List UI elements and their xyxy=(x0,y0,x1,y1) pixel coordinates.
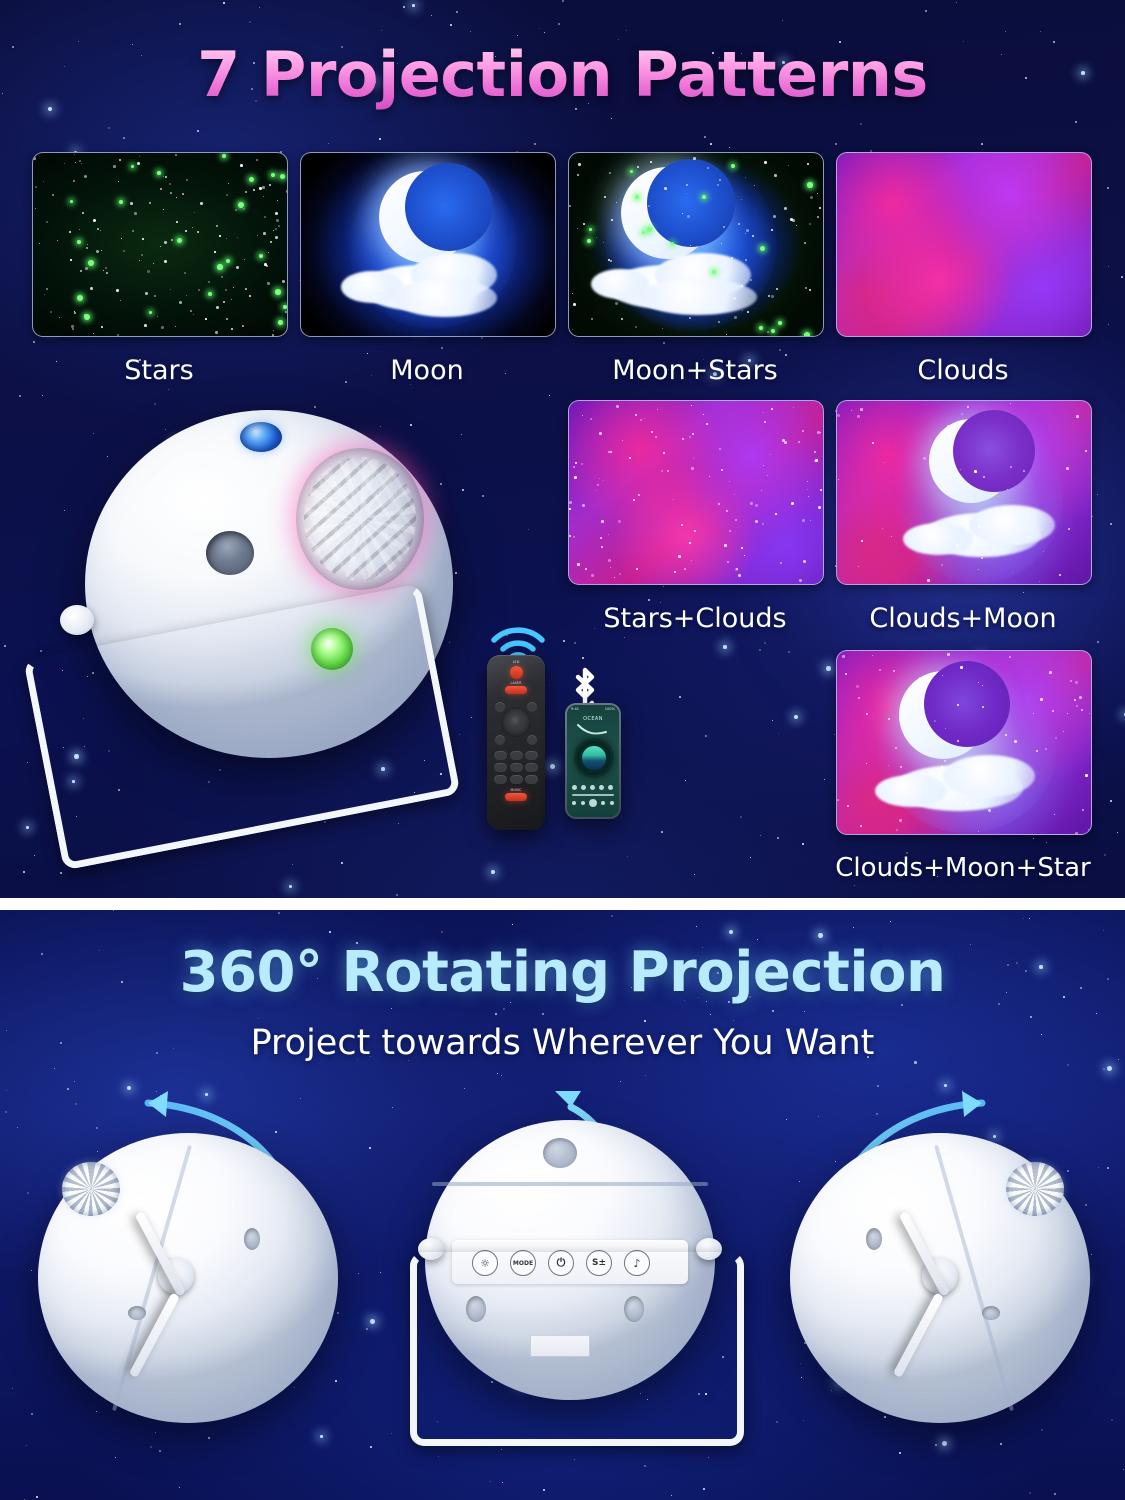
remote-aux-button-3[interactable] xyxy=(495,735,505,745)
pattern-label-moon-stars: Moon+Stars xyxy=(568,355,822,386)
body-seam xyxy=(432,1182,708,1186)
remote-key-2[interactable] xyxy=(510,751,523,760)
pattern-thumb-stars-clouds[interactable] xyxy=(568,400,824,585)
ir-remote-control[interactable]: LED LASER MUSIC xyxy=(487,655,545,830)
remote-music-button[interactable] xyxy=(505,793,527,801)
remote-aux-button-1[interactable] xyxy=(495,702,505,712)
vent-hole xyxy=(244,1228,260,1250)
pattern-thumb-clouds-moon[interactable] xyxy=(836,400,1092,585)
remote-laser-button[interactable] xyxy=(505,686,527,694)
phone-status-battery: 100% xyxy=(605,707,615,711)
app-preview-image xyxy=(582,746,606,770)
remote-key-1[interactable] xyxy=(494,751,507,760)
remote-key-7[interactable] xyxy=(494,775,507,784)
app-next-button[interactable] xyxy=(610,801,614,805)
projection-patterns-section: 7 Projection Patterns Stars Moon xyxy=(0,0,1125,900)
stand-pivot-knob[interactable] xyxy=(60,605,94,635)
crescent-moon-icon xyxy=(929,419,1013,503)
pattern-thumb-stars[interactable] xyxy=(32,152,288,337)
smartphone-app[interactable]: 9:41 100% OCEAN xyxy=(565,703,621,819)
crescent-moon-icon xyxy=(899,671,987,759)
phone-status-time: 9:41 xyxy=(571,707,579,711)
product-infographic: 7 Projection Patterns Stars Moon xyxy=(0,0,1125,1500)
remote-laser-label: LASER xyxy=(487,681,545,685)
remote-led-label: LED xyxy=(487,660,545,664)
vent-hole xyxy=(128,1306,146,1320)
remote-key-5[interactable] xyxy=(510,763,523,772)
remote-music-label: MUSIC xyxy=(487,788,545,792)
section-2-subtitle: Project towards Wherever You Want xyxy=(0,1023,1125,1063)
remote-key-8[interactable] xyxy=(510,775,523,784)
remote-key-6[interactable] xyxy=(525,763,538,772)
remote-aux-button-4[interactable] xyxy=(527,735,537,745)
remote-dpad[interactable] xyxy=(501,707,531,737)
remote-key-9[interactable] xyxy=(525,775,538,784)
pattern-thumb-moon-stars[interactable] xyxy=(568,152,824,337)
pattern-label-clouds-moon: Clouds+Moon xyxy=(836,603,1090,634)
phone-status-bar: 9:41 100% xyxy=(567,707,619,713)
pattern-thumb-clouds[interactable] xyxy=(836,152,1092,337)
pattern-label-clouds-moon-star: Clouds+Moon+Star xyxy=(820,853,1106,883)
pattern-label-clouds: Clouds xyxy=(836,355,1090,386)
remote-key-4[interactable] xyxy=(494,763,507,772)
remote-power-button[interactable] xyxy=(510,666,523,679)
pattern-label-moon: Moon xyxy=(300,355,554,386)
app-play-button[interactable] xyxy=(589,799,597,807)
remote-key-3[interactable] xyxy=(525,751,538,760)
app-icon-5[interactable] xyxy=(608,785,613,790)
projector-stand-center[interactable] xyxy=(410,1252,744,1446)
app-icon-1[interactable] xyxy=(572,785,577,790)
top-vent xyxy=(543,1138,577,1168)
crescent-moon-icon xyxy=(621,167,713,259)
app-rewind-button[interactable] xyxy=(581,801,585,805)
phone-screen[interactable]: 9:41 100% OCEAN xyxy=(567,705,619,817)
star-laser-lens xyxy=(240,422,282,452)
app-icon-2[interactable] xyxy=(581,785,586,790)
app-icon-3[interactable] xyxy=(590,785,595,790)
app-title: OCEAN xyxy=(567,716,619,722)
crescent-moon-icon xyxy=(379,171,471,263)
app-forward-button[interactable] xyxy=(601,801,605,805)
pattern-label-stars-clouds: Stars+Clouds xyxy=(568,603,822,634)
vent-hole xyxy=(866,1228,882,1250)
vent-hole xyxy=(982,1306,1000,1320)
app-preview-disk[interactable] xyxy=(574,738,614,778)
app-prev-button[interactable] xyxy=(572,801,576,805)
section-1-title: 7 Projection Patterns xyxy=(0,38,1125,111)
pattern-thumb-moon[interactable] xyxy=(300,152,556,337)
nebula-lens-left xyxy=(62,1162,120,1216)
pattern-label-stars: Stars xyxy=(32,355,286,386)
remote-dpad-center[interactable] xyxy=(510,716,522,728)
app-curve-graphic xyxy=(577,723,607,736)
projection-aperture xyxy=(206,531,254,575)
remote-aux-button-2[interactable] xyxy=(527,702,537,712)
pattern-thumb-clouds-moon-star[interactable] xyxy=(836,650,1092,835)
section-2-title: 360° Rotating Projection xyxy=(0,940,1125,1005)
app-slider[interactable] xyxy=(572,794,614,796)
app-icon-4[interactable] xyxy=(599,785,604,790)
nebula-lens-right xyxy=(1006,1162,1064,1216)
nebula-lens xyxy=(296,448,424,590)
